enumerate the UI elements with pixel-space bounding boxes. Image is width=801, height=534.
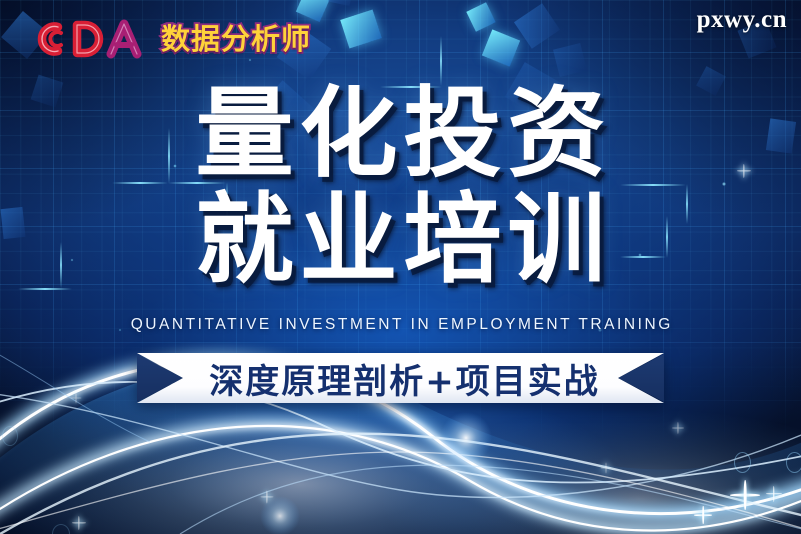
- headline-line-1: 量化投资: [0, 86, 801, 182]
- cda-logo[interactable]: 数据分析师: [27, 18, 311, 60]
- english-subtitle: QUANTITATIVE INVESTMENT IN EMPLOYMENT TR…: [0, 316, 801, 334]
- cda-logo-chinese-label: 数据分析师: [161, 25, 311, 54]
- ribbon-label: 深度原理剖析+项目实战: [137, 353, 664, 403]
- cda-logo-icon: [27, 18, 157, 60]
- headline-line-2: 就业培训: [0, 192, 801, 288]
- headline: 量化投资 就业培训: [0, 86, 801, 288]
- site-watermark: pxwy.cn: [697, 6, 787, 34]
- promo-banner: 数据分析师 pxwy.cn 量化投资 就业培训 QUANTITATIVE INV…: [0, 0, 801, 534]
- ribbon-banner: 深度原理剖析+项目实战: [137, 353, 664, 403]
